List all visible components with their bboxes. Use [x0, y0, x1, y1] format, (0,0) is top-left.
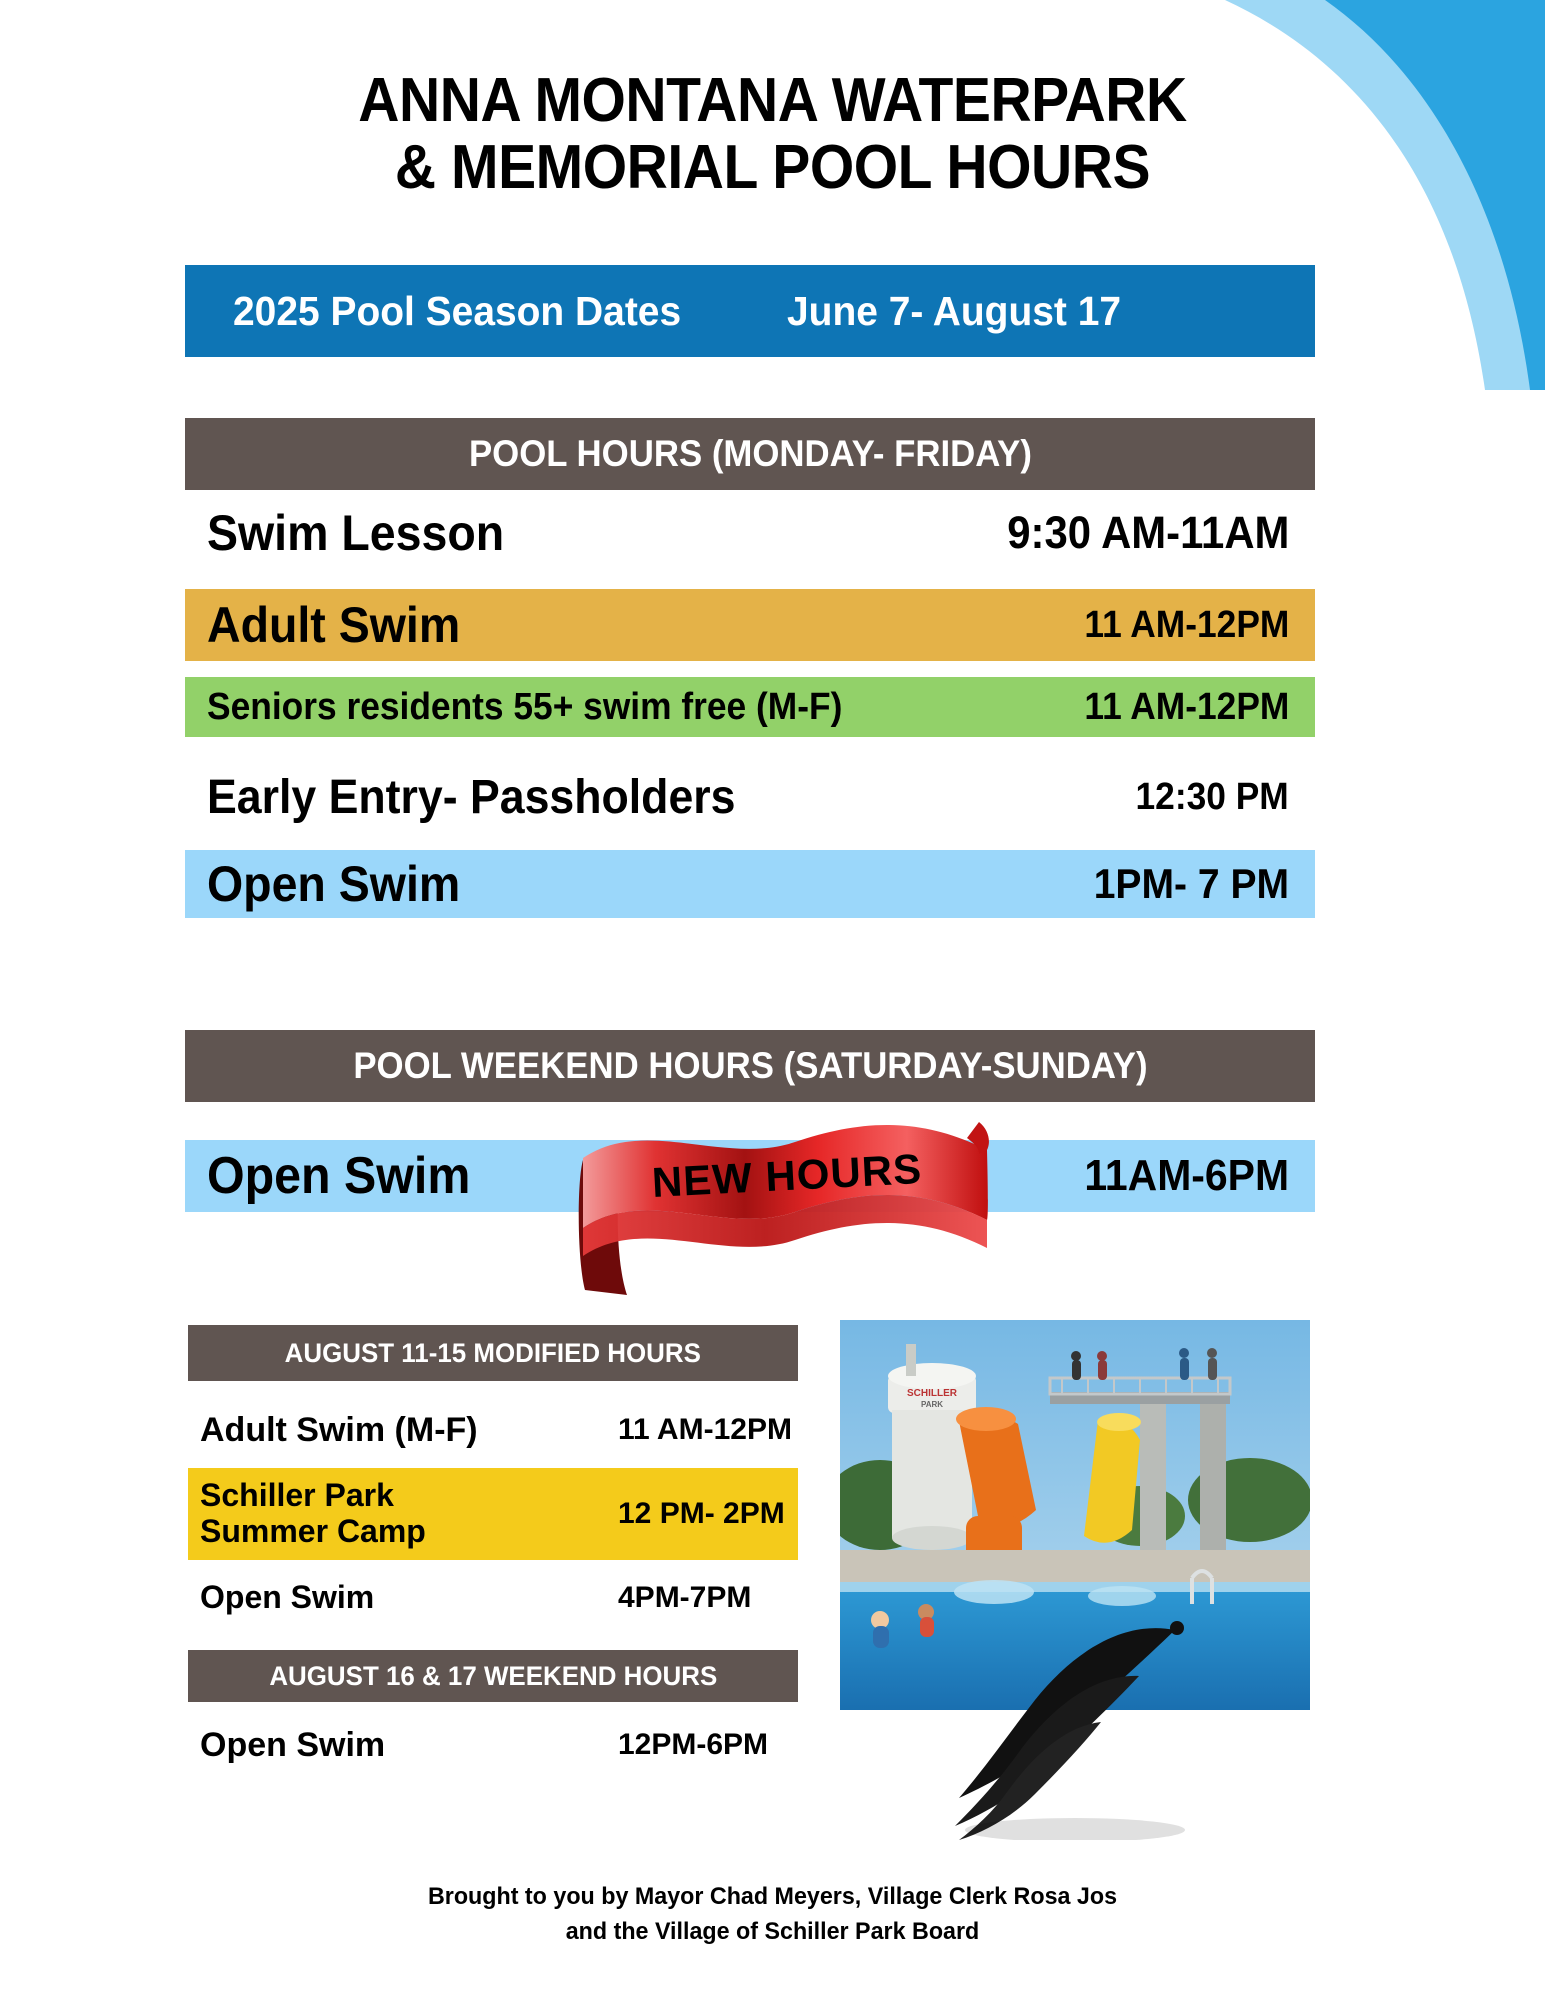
- weekday-section-header: POOL HOURS (MONDAY- FRIDAY): [185, 418, 1315, 490]
- row-label: Open Swim: [200, 1726, 385, 1764]
- weekend-section-header-label: POOL WEEKEND HOURS (SATURDAY-SUNDAY): [353, 1045, 1147, 1087]
- schedule-row-open-swim: Open Swim 1PM- 7 PM: [185, 850, 1315, 918]
- season-label: 2025 Pool Season Dates: [233, 288, 681, 335]
- row-time: 4PM-7PM: [618, 1581, 751, 1615]
- schedule-row-swim-lesson: Swim Lesson 9:30 AM-11AM: [185, 496, 1315, 570]
- row-time: 1PM- 7 PM: [1094, 860, 1289, 908]
- row-label: Open Swim: [207, 1146, 470, 1206]
- row-time: 11 AM-12PM: [618, 1413, 792, 1447]
- august-row-open-swim: Open Swim 4PM-7PM: [188, 1570, 798, 1626]
- august-weekend-header: AUGUST 16 & 17 WEEKEND HOURS: [188, 1650, 798, 1702]
- svg-text:SCHILLER: SCHILLER: [907, 1388, 958, 1399]
- svg-text:PARK: PARK: [921, 1400, 943, 1409]
- schedule-row-seniors: Seniors residents 55+ swim free (M-F) 11…: [185, 677, 1315, 737]
- row-label: Open Swim: [207, 855, 460, 913]
- august-modified-header: AUGUST 11-15 MODIFIED HOURS: [188, 1325, 798, 1381]
- row-label: Schiller Park Summer Camp: [200, 1478, 426, 1550]
- august-weekend-header-label: AUGUST 16 & 17 WEEKEND HOURS: [269, 1661, 717, 1692]
- row-label: Open Swim: [200, 1580, 374, 1616]
- row-time: 12 PM- 2PM: [618, 1497, 785, 1531]
- row-time: 9:30 AM-11AM: [1007, 507, 1289, 559]
- row-label: Swim Lesson: [207, 504, 504, 562]
- schedule-row-adult-swim: Adult Swim 11 AM-12PM: [185, 589, 1315, 661]
- footer-line-2: and the Village of Schiller Park Board: [23, 1915, 1522, 1950]
- row-label: Adult Swim: [207, 596, 460, 654]
- august-modified-header-label: AUGUST 11-15 MODIFIED HOURS: [285, 1338, 701, 1369]
- row-label: Early Entry- Passholders: [207, 770, 735, 825]
- title-line-1: ANNA MONTANA WATERPARK: [62, 68, 1483, 135]
- august-weekend-row-open-swim: Open Swim 12PM-6PM: [188, 1715, 798, 1775]
- season-dates: June 7- August 17: [787, 288, 1121, 335]
- schedule-row-early-entry: Early Entry- Passholders 12:30 PM: [185, 761, 1315, 833]
- title-line-2: & MEMORIAL POOL HOURS: [62, 135, 1483, 202]
- weekend-section-header: POOL WEEKEND HOURS (SATURDAY-SUNDAY): [185, 1030, 1315, 1102]
- row-time: 12PM-6PM: [618, 1728, 768, 1762]
- august-row-summer-camp: Schiller Park Summer Camp 12 PM- 2PM: [188, 1468, 798, 1560]
- page-title: ANNA MONTANA WATERPARK & MEMORIAL POOL H…: [62, 68, 1483, 202]
- row-label: Seniors residents 55+ swim free (M-F): [207, 686, 842, 729]
- row-time: 11AM-6PM: [1084, 1151, 1289, 1201]
- season-dates-bar: 2025 Pool Season Dates June 7- August 17: [185, 265, 1315, 357]
- row-time: 12:30 PM: [1136, 776, 1289, 819]
- row-label: Adult Swim (M-F): [200, 1411, 478, 1449]
- row-time: 11 AM-12PM: [1084, 686, 1289, 729]
- footer-credits: Brought to you by Mayor Chad Meyers, Vil…: [0, 1880, 1545, 1950]
- row-time: 11 AM-12PM: [1084, 604, 1289, 647]
- august-row-adult-swim: Adult Swim (M-F) 11 AM-12PM: [188, 1400, 798, 1460]
- village-logo: [925, 1590, 1215, 1840]
- weekday-section-header-label: POOL HOURS (MONDAY- FRIDAY): [468, 433, 1031, 475]
- footer-line-1: Brought to you by Mayor Chad Meyers, Vil…: [23, 1880, 1522, 1915]
- poster-page: ANNA MONTANA WATERPARK & MEMORIAL POOL H…: [0, 0, 1545, 2000]
